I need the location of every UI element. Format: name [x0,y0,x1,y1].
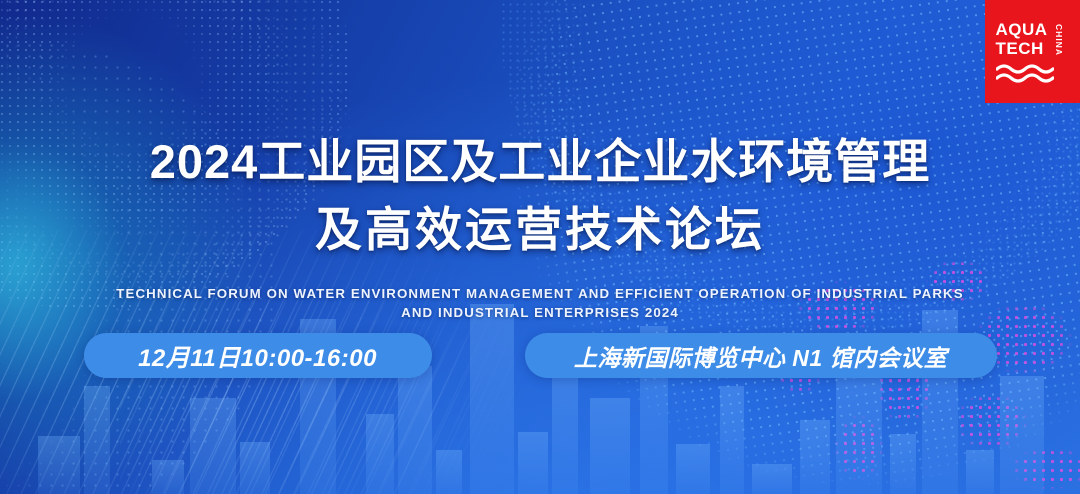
subtitle-line-1: TECHNICAL FORUM ON WATER ENVIRONMENT MAN… [0,284,1080,303]
title-line-2: 及高效运营技术论坛 [0,196,1080,264]
subtitle-line-2: AND INDUSTRIAL ENTERPRISES 2024 [0,303,1080,322]
page-title: 2024工业园区及工业企业水环境管理 及高效运营技术论坛 [0,128,1080,264]
info-badges: 12月11日10:00-16:00 上海新国际博览中心 N1 馆内会议室 [0,333,1080,378]
event-banner: AQUA TECH CHINA 2024工业园区及工业企业水环境管理 及高效运营… [0,0,1080,494]
date-badge: 12月11日10:00-16:00 [84,333,432,378]
banner-content: 2024工业园区及工业企业水环境管理 及高效运营技术论坛 TECHNICAL F… [0,0,1080,494]
page-subtitle: TECHNICAL FORUM ON WATER ENVIRONMENT MAN… [0,284,1080,322]
title-line-1: 2024工业园区及工业企业水环境管理 [0,128,1080,196]
venue-badge: 上海新国际博览中心 N1 馆内会议室 [525,333,997,378]
